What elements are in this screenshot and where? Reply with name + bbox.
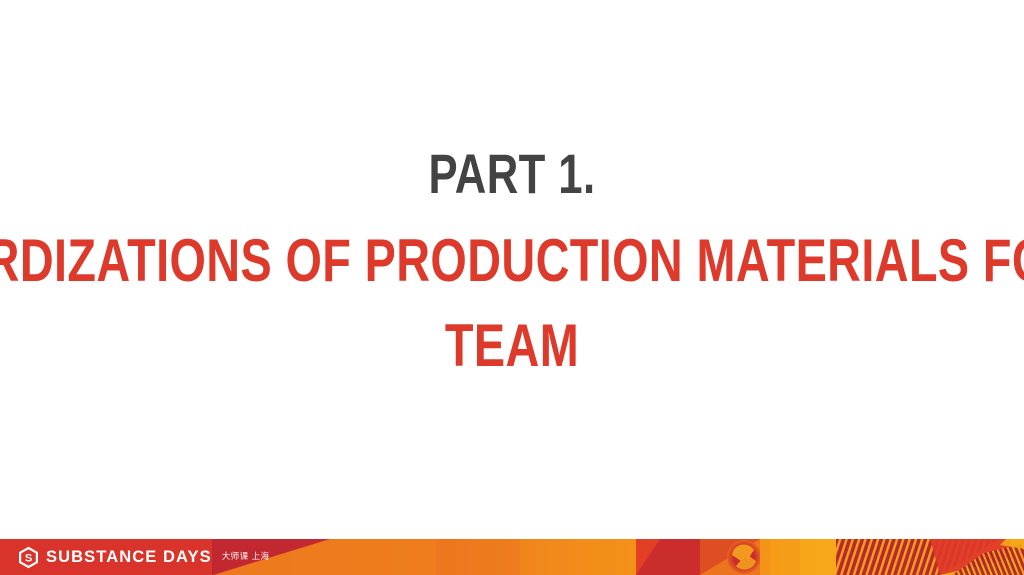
slide-canvas: PART 1. STANDARDIZATIONS OF PRODUCTION M…: [0, 0, 1024, 575]
title-block: PART 1. STANDARDIZATIONS OF PRODUCTION M…: [0, 143, 1024, 379]
footer-banner: S SUBSTANCE DAYS 大师课 上海: [0, 539, 1024, 575]
page-title-headline-line-2: TEAM: [113, 313, 912, 379]
brand-logo-lockup: S SUBSTANCE DAYS 大师课 上海: [18, 539, 269, 575]
page-title-part-label: PART 1.: [113, 143, 912, 205]
substance-hexagon-s-icon: S: [18, 546, 39, 569]
page-title-headline-line-1: STANDARDIZATIONS OF PRODUCTION MATERIALS…: [113, 228, 912, 294]
svg-text:S: S: [25, 552, 32, 564]
brand-subtitle: 大师课 上海: [222, 553, 270, 562]
brand-wordmark: SUBSTANCE DAYS: [46, 549, 212, 566]
